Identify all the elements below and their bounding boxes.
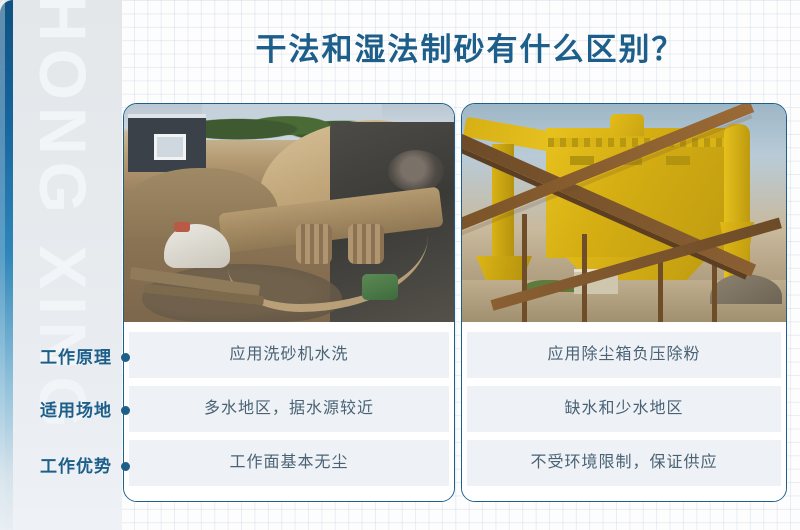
fact-row: 多水地区，据水源较近 xyxy=(129,386,449,432)
photo-wet-illustration xyxy=(124,104,454,322)
connector-dot-row-2 xyxy=(121,406,130,415)
sidebar-accent-bar xyxy=(0,0,13,530)
row-label-working-principle: 工作原理 xyxy=(16,349,112,366)
site-shed xyxy=(128,114,206,172)
fact-row: 缺水和少水地区 xyxy=(467,386,781,432)
fact-rows-dry: 应用除尘箱负压除粉 缺水和少水地区 不受环境限制，保证供应 xyxy=(462,322,786,501)
fact-row: 工作面基本无尘 xyxy=(129,440,449,486)
roller-left xyxy=(296,224,332,264)
hopper-stack xyxy=(610,114,644,136)
fact-row: 应用除尘箱负压除粉 xyxy=(467,332,781,378)
connector-dot-row-1 xyxy=(121,353,130,362)
aggregate-pile xyxy=(710,274,782,304)
shed-window xyxy=(154,134,186,160)
fact-rows-wet: 应用洗砂机水洗 多水地区，据水源较近 工作面基本无尘 xyxy=(124,322,454,501)
sidebar-accent-gloss xyxy=(0,0,5,530)
fact-row: 不受环境限制，保证供应 xyxy=(467,440,781,486)
comparison-card-wet: 应用洗砂机水洗 多水地区，据水源较近 工作面基本无尘 xyxy=(123,103,455,502)
hopper-vent-1 xyxy=(570,156,594,165)
comparison-card-dry: 应用除尘箱负压除粉 缺水和少水地区 不受环境限制，保证供应 xyxy=(461,103,787,502)
red-marker xyxy=(174,222,190,232)
support-leg-3 xyxy=(658,254,663,322)
green-motor xyxy=(362,274,398,300)
roller-right xyxy=(348,224,384,264)
infographic-page: HONG XING 工作原理 适用场地 工作优势 干法和湿法制砂有什么区别？ xyxy=(0,0,800,530)
connector-dot-row-3 xyxy=(121,462,130,471)
row-label-advantage: 工作优势 xyxy=(16,458,112,475)
row-label-column: 工作原理 适用场地 工作优势 xyxy=(14,0,124,530)
sand-washer-drum xyxy=(388,150,444,192)
support-leg-1 xyxy=(522,214,527,322)
photo-wet-sand-washing xyxy=(124,104,454,322)
photo-dry-illustration xyxy=(462,104,786,322)
support-leg-4 xyxy=(712,262,717,322)
hopper-vent-3 xyxy=(666,156,690,165)
row-label-suitable-site: 适用场地 xyxy=(16,402,112,419)
page-title: 干法和湿法制砂有什么区别？ xyxy=(160,31,780,68)
fact-row: 应用洗砂机水洗 xyxy=(129,332,449,378)
photo-dry-dust-collection xyxy=(462,104,786,322)
